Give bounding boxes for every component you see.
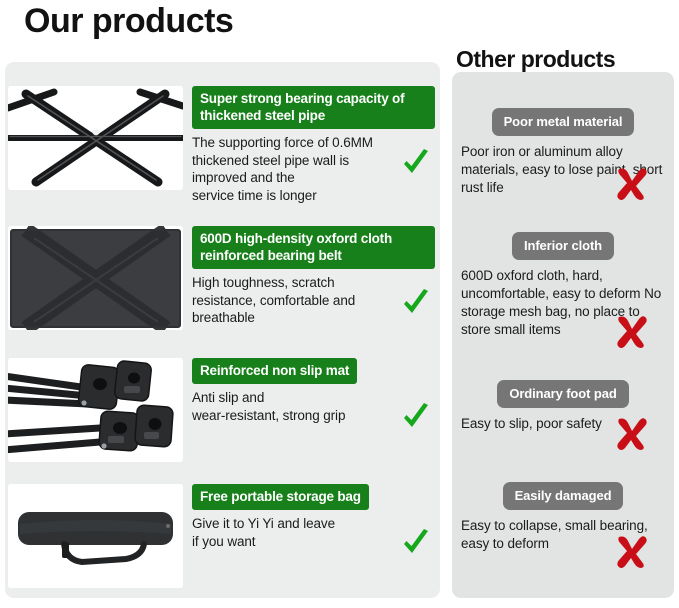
check-icon [401,402,431,432]
other-product-row: Ordinary foot pad Easy to slip, poor saf… [452,380,674,433]
cross-icon [615,314,649,348]
product-description: High toughness, scratch resistance, comf… [192,274,435,327]
cross-icon [615,416,649,450]
product-title-badge: Super strong bearing capacity of thicken… [192,86,435,129]
product-description: The supporting force of 0.6MM thickened … [192,134,435,204]
product-thumbnail [8,86,183,190]
other-title-pill: Ordinary foot pad [497,380,628,408]
product-title-badge: 600D high-density oxford cloth reinforce… [192,226,435,269]
product-thumbnail [8,226,183,330]
product-row: 600D high-density oxford cloth reinforce… [0,226,435,330]
product-copy: Free portable storage bag Give it to Yi … [192,484,435,550]
product-copy: Super strong bearing capacity of thicken… [192,86,435,204]
page-title-our-products: Our products [24,2,233,41]
check-icon [401,528,431,558]
product-copy: Reinforced non slip mat Anti slip and we… [192,358,435,424]
cross-icon [615,166,649,200]
oxford-cloth-photo [8,226,183,330]
product-thumbnail [8,484,183,588]
non-slip-foot-photo [8,358,183,462]
storage-bag-photo [8,484,183,588]
product-description: Anti slip and wear-resistant, strong gri… [192,389,435,424]
product-row: Super strong bearing capacity of thicken… [0,86,435,204]
other-title-pill: Poor metal material [492,108,635,136]
other-product-row: Easily damaged Easy to collapse, small b… [452,482,674,553]
product-row: Free portable storage bag Give it to Yi … [0,484,435,588]
product-thumbnail [8,358,183,462]
steel-crossbar-photo [8,86,183,190]
product-title-badge: Reinforced non slip mat [192,358,357,384]
check-icon [401,288,431,318]
product-row: Reinforced non slip mat Anti slip and we… [0,358,435,462]
product-title-badge: Free portable storage bag [192,484,369,510]
check-icon [401,148,431,178]
page-title-other-products: Other products [456,46,615,73]
cross-icon [615,534,649,568]
product-copy: 600D high-density oxford cloth reinforce… [192,226,435,327]
other-product-row: Inferior cloth 600D oxford cloth, hard, … [452,232,674,339]
other-title-pill: Inferior cloth [512,232,614,260]
product-description: Give it to Yi Yi and leave if you want [192,515,435,550]
other-product-row: Poor metal material Poor iron or aluminu… [452,108,674,197]
other-title-pill: Easily damaged [503,482,624,510]
